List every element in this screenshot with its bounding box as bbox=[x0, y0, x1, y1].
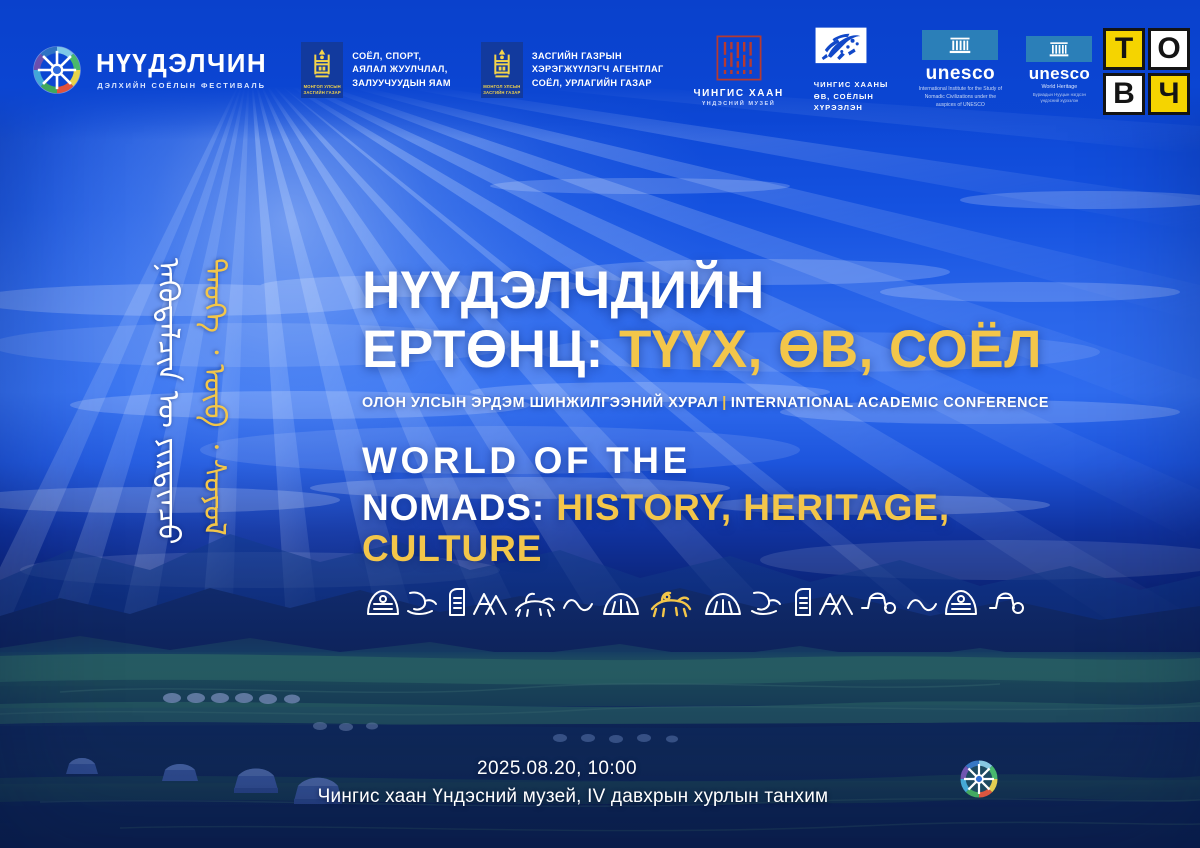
horse-rider-icon bbox=[652, 592, 690, 615]
ger-icon bbox=[368, 591, 398, 614]
agency-line-3: СОЁЛ, УРЛАГИЙН ГАЗАР bbox=[532, 77, 664, 90]
unesco-wh-subtitle: World Heritage bbox=[1041, 84, 1077, 90]
conference-subtitle-en: INTERNATIONAL ACADEMIC CONFERENCE bbox=[731, 395, 1049, 411]
tovch-cell-ch: Ч bbox=[1148, 73, 1190, 115]
event-datetime: 2025.08.20, 10:00 bbox=[0, 758, 1200, 780]
horse-rider-icon bbox=[516, 593, 554, 615]
cart-icon bbox=[990, 593, 1023, 613]
agency-line-2: ХЭРЭГЖҮҮЛЭГЧ АГЕНТЛАГ bbox=[532, 63, 664, 76]
wave-icon bbox=[564, 600, 592, 610]
scroll-icon bbox=[450, 589, 464, 615]
unesco-subtitle: International Institute for the Study of… bbox=[918, 86, 1002, 110]
title-en-line2-white: NOMADS: bbox=[362, 487, 545, 528]
festival-tagline: ДЭЛХИЙН СОЁЛЫН ФЕСТИВАЛЬ bbox=[96, 81, 267, 90]
tovch-cell-o: О bbox=[1148, 28, 1190, 70]
conference-subtitle: ОЛОН УЛСЫН ЭРДЭМ ШИНЖИЛГЭЭНИЙ ХУРАЛ|INTE… bbox=[362, 395, 1062, 411]
sponsor-logo-bar: НҮҮДЭЛЧИН ДЭЛХИЙН СОЁЛЫН ФЕСТИВАЛЬ bbox=[0, 0, 1200, 140]
conference-subtitle-separator: | bbox=[722, 395, 727, 411]
ministry-name: СОЁЛ, СПОРТ, АЯЛАЛ ЖУУЛЧЛАЛ, ЗАЛУУЧУУДЫН… bbox=[352, 50, 451, 90]
unesco-temple-icon bbox=[949, 35, 971, 55]
heritage-garden-logo: ЧИНГИС ХААНЫ ӨВ, СОЁЛЫН ХҮРЭЭЛЭН bbox=[814, 26, 889, 113]
scroll-icon bbox=[796, 589, 810, 615]
title-mn-line2-white: ЕРТӨНЦ: bbox=[362, 320, 604, 379]
agency-name: ЗАСГИЙН ГАЗРЫН ХЭРЭГЖҮҮЛЭГЧ АГЕНТЛАГ СОЁ… bbox=[532, 50, 664, 90]
unesco-temple-icon bbox=[1049, 40, 1069, 58]
sunburst-icon bbox=[706, 594, 740, 614]
mountain-icon bbox=[820, 594, 852, 614]
garden-line-2: ӨВ, СОЁЛЫН bbox=[814, 91, 889, 102]
museum-name: ЧИНГИС ХААН bbox=[694, 88, 784, 99]
mongol-script-gold: ᠲᠡᠦᠬᠡ ᠂ ᠦᠪ ᠂ ᠰᠣᠶᠣᠯ bbox=[196, 258, 231, 548]
museum-subtitle: ҮНДЭСНИЙ МУЗЕЙ bbox=[702, 101, 775, 107]
festival-name: НҮҮДЭЛЧИН bbox=[96, 50, 267, 76]
mountain-icon bbox=[474, 594, 506, 614]
wave-icon bbox=[908, 600, 936, 610]
title-block: НҮҮДЭЛЧДИЙН ЕРТӨНЦ: ТҮҮХ, ӨВ, СОЁЛ ОЛОН … bbox=[362, 262, 1062, 620]
swan-icon bbox=[408, 592, 436, 614]
conference-subtitle-mn: ОЛОН УЛСЫН ЭРДЭМ ШИНЖИЛГЭЭНИЙ ХУРАЛ bbox=[362, 395, 718, 411]
swan-icon bbox=[752, 592, 780, 614]
unesco-wh-wordmark: unesco bbox=[1029, 65, 1090, 82]
tovch-cell-v: В bbox=[1103, 73, 1145, 115]
museum-logo: ЧИНГИС ХААН ҮНДЭСНИЙ МУЗЕЙ bbox=[694, 34, 784, 107]
unesco-wh-caption: Буриадын Нууцын нэгдсэн үндэсний хүрээлэ… bbox=[1024, 92, 1094, 105]
garden-line-3: ХҮРЭЭЛЭН bbox=[814, 102, 889, 113]
garden-line-1: ЧИНГИС ХААНЫ bbox=[814, 79, 889, 90]
chinggis-museum-icon bbox=[715, 34, 763, 82]
ministry-line-1: СОЁЛ, СПОРТ, bbox=[352, 50, 451, 63]
mongol-script-white: ᠨᠡᠭᠦᠳᠡᠯᠴᠢᠨ ᠦ ᠶᠢᠷᠲᠢᠨᠴᠦ bbox=[150, 258, 185, 658]
tovch-cell-t: Т bbox=[1103, 28, 1145, 70]
nomad-wheel-icon bbox=[28, 41, 86, 99]
ger-icon bbox=[946, 591, 976, 614]
unesco-world-heritage-logo: unesco World Heritage Буриадын Нууцын нэ… bbox=[1024, 36, 1094, 105]
ministry-logo: МОНГОЛ УЛСЫН ЗАСГИЙН ГАЗАР СОЁЛ, СПОРТ, … bbox=[301, 42, 451, 98]
ministry-line-3: ЗАЛУУЧУУДЫН ЯАМ bbox=[352, 77, 451, 90]
title-mn-line2: ЕРТӨНЦ: ТҮҮХ, ӨВ, СОЁЛ bbox=[362, 321, 1062, 378]
ministry-badge-caption: МОНГОЛ УЛСЫН ЗАСГИЙН ГАЗАР bbox=[301, 84, 343, 95]
event-venue: Чингис хаан Үндэсний музей, IV давхрын х… bbox=[0, 786, 1200, 808]
heritage-garden-icon bbox=[814, 26, 868, 74]
pictogram-frieze bbox=[362, 584, 1062, 620]
conference-poster: НҮҮДЭЛЧИН ДЭЛХИЙН СОЁЛЫН ФЕСТИВАЛЬ bbox=[0, 0, 1200, 848]
ministry-line-2: АЯЛАЛ ЖУУЛЧЛАЛ, bbox=[352, 63, 451, 76]
unesco-wordmark: unesco bbox=[926, 64, 996, 83]
nomad-wheel-icon bbox=[957, 757, 1001, 801]
agency-line-1: ЗАСГИЙН ГАЗРЫН bbox=[532, 50, 664, 63]
soyombo-emblem-icon bbox=[311, 48, 333, 82]
sunburst-icon bbox=[604, 594, 638, 614]
soyombo-emblem-icon bbox=[491, 48, 513, 82]
steppe-foreground bbox=[0, 652, 1200, 848]
title-en-line1: WORLD OF THE bbox=[362, 441, 1062, 482]
cart-icon bbox=[862, 593, 895, 613]
agency-logo: МОНГОЛ УЛСЫН ЗАСГИЙН ГАЗАР ЗАСГИЙН ГАЗРЫ… bbox=[481, 42, 664, 98]
festival-logo: НҮҮДЭЛЧИН ДЭЛХИЙН СОЁЛЫН ФЕСТИВАЛЬ bbox=[28, 41, 267, 99]
title-mn-line2-gold: ТҮҮХ, ӨВ, СОЁЛ bbox=[619, 320, 1042, 379]
agency-badge-caption: МОНГОЛ УЛСЫН ЗАСГИЙН ГАЗАР bbox=[481, 84, 523, 95]
footer-wheel-logo bbox=[957, 757, 1001, 806]
tovch-logo: Т О В Ч bbox=[1103, 28, 1190, 115]
title-en-line2: NOMADS: HISTORY, HERITAGE, CULTURE bbox=[362, 488, 1062, 569]
unesco-iisnc-logo: unesco International Institute for the S… bbox=[918, 30, 1002, 110]
title-mn-line1: НҮҮДЭЛЧДИЙН bbox=[362, 262, 1062, 319]
